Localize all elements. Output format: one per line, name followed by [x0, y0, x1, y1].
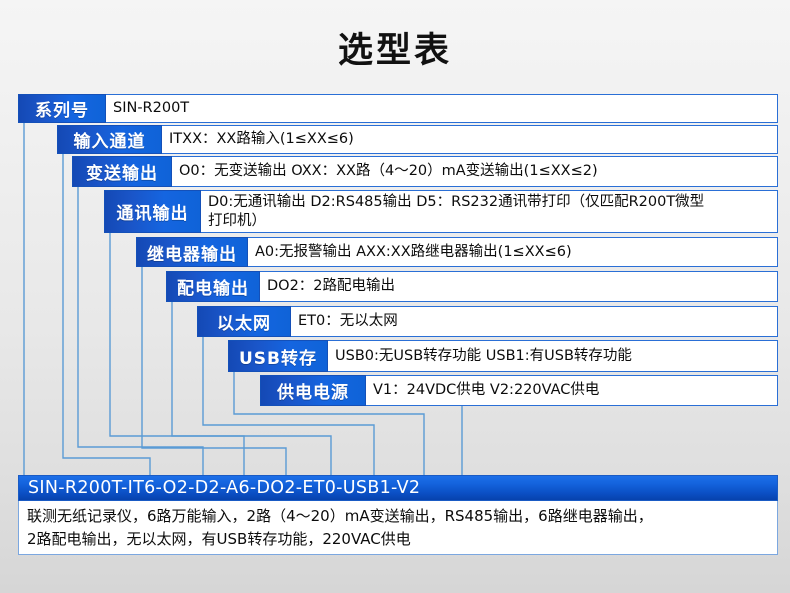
model-code-bar: SIN-R200T-IT6-O2-D2-A6-DO2-ET0-USB1-V2 [18, 475, 778, 501]
spec-row-label: 供电电源 [260, 375, 366, 406]
spec-row: 系列号SIN-R200T [18, 94, 778, 123]
spec-row: 输入通道ITXX：XX路输入(1≤XX≤6) [57, 125, 778, 154]
spec-row-value: V1：24VDC供电 V2:220VAC供电 [366, 375, 778, 406]
spec-row-label: 输入通道 [57, 125, 162, 154]
spec-row: 配电输出DO2：2路配电输出 [166, 271, 778, 302]
spec-row-value: A0:无报警输出 AXX:XX路继电器输出(1≤XX≤6) [248, 237, 778, 267]
spec-row-value: O0：无变送输出 OXX：XX路（4～20）mA变送输出(1≤XX≤2) [172, 156, 778, 187]
spec-row-label: USB转存 [228, 340, 328, 372]
spec-row-value: USB0:无USB转存功能 USB1:有USB转存功能 [328, 340, 778, 372]
spec-row-label: 通讯输出 [104, 190, 201, 233]
spec-row-label: 继电器输出 [136, 237, 248, 267]
spec-row-value: DO2：2路配电输出 [260, 271, 778, 302]
spec-row-label: 配电输出 [166, 271, 260, 302]
spec-row: 供电电源V1：24VDC供电 V2:220VAC供电 [260, 375, 778, 406]
spec-row-label: 变送输出 [72, 156, 172, 187]
spec-row-value: ITXX：XX路输入(1≤XX≤6) [162, 125, 778, 154]
spec-row-value: SIN-R200T [106, 94, 778, 123]
spec-row-label: 以太网 [197, 306, 291, 337]
summary-description: 联测无纸记录仪，6路万能输入，2路（4～20）mA变送输出，RS485输出，6路… [18, 501, 778, 555]
spec-row: 以太网ET0：无以太网 [197, 306, 778, 337]
spec-row: USB转存USB0:无USB转存功能 USB1:有USB转存功能 [228, 340, 778, 372]
spec-row: 通讯输出D0:无通讯输出 D2:RS485输出 D5：RS232通讯带打印（仅匹… [104, 190, 778, 233]
spec-row-value: D0:无通讯输出 D2:RS485输出 D5：RS232通讯带打印（仅匹配R20… [201, 190, 778, 233]
selection-table-page: 选型表 系列号SIN-R200T输入通道ITXX：XX路输入(1≤XX≤6)变送… [0, 0, 790, 593]
spec-row-value: ET0：无以太网 [291, 306, 778, 337]
spec-row-label: 系列号 [18, 94, 106, 123]
model-code-text: SIN-R200T-IT6-O2-D2-A6-DO2-ET0-USB1-V2 [28, 478, 420, 498]
spec-row: 继电器输出A0:无报警输出 AXX:XX路继电器输出(1≤XX≤6) [136, 237, 778, 267]
spec-row: 变送输出O0：无变送输出 OXX：XX路（4～20）mA变送输出(1≤XX≤2) [72, 156, 778, 187]
